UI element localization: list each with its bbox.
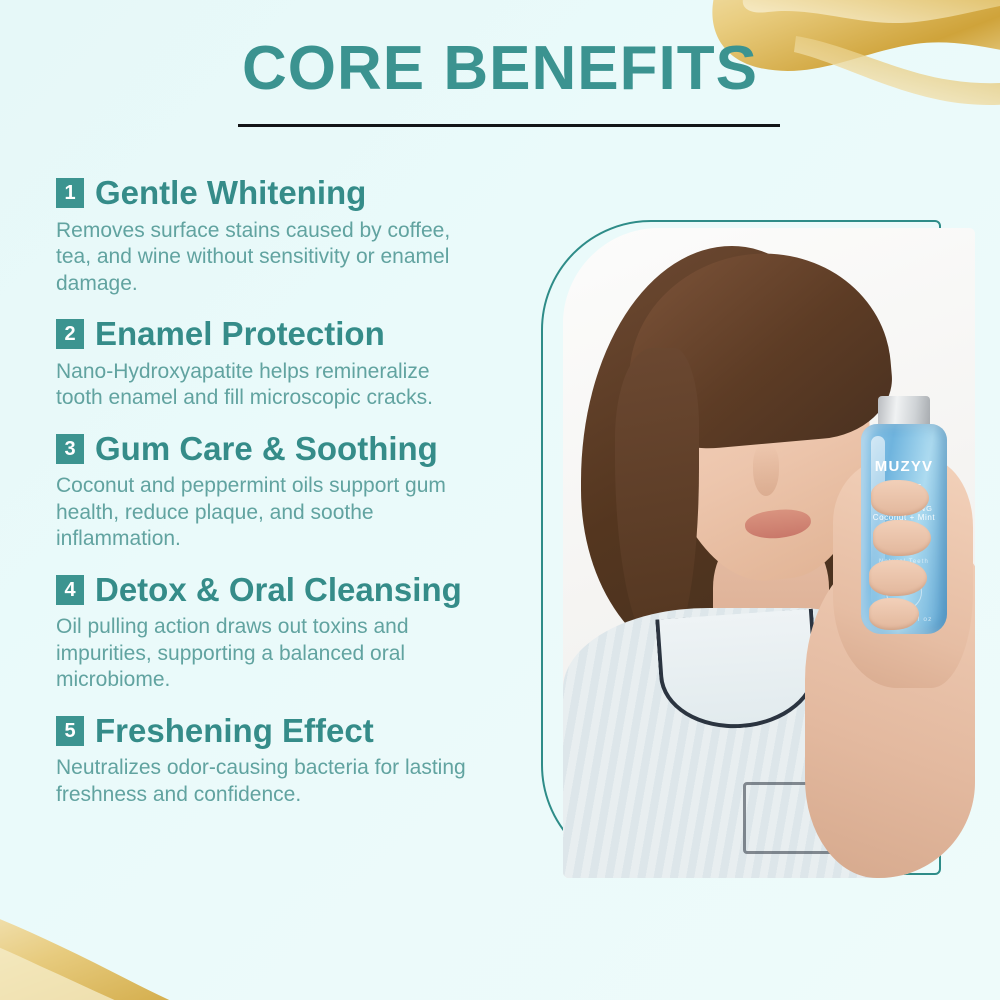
benefit-description: Coconut and peppermint oils support gum … xyxy=(56,473,476,552)
benefit-title: Gum Care & Soothing xyxy=(95,432,438,467)
benefit-item: 2 Enamel Protection Nano-Hydroxyapatite … xyxy=(56,317,526,412)
benefit-number-badge: 1 xyxy=(56,178,84,208)
benefit-header: 2 Enamel Protection xyxy=(56,317,526,352)
benefit-header: 5 Freshening Effect xyxy=(56,714,526,749)
model-nose xyxy=(753,444,779,496)
benefit-title: Gentle Whitening xyxy=(95,176,366,211)
benefit-item: 4 Detox & Oral Cleansing Oil pulling act… xyxy=(56,573,526,694)
benefit-header: 3 Gum Care & Soothing xyxy=(56,432,526,467)
benefit-item: 1 Gentle Whitening Removes surface stain… xyxy=(56,176,526,297)
product-photo: MUZYV GENTLE WHITENING OIL PULLING Cocon… xyxy=(563,228,975,878)
infographic-page: CORE BENEFITS 1 Gentle Whitening Removes… xyxy=(0,0,1000,1000)
bottle-brand-label: MUZYV xyxy=(861,458,947,475)
benefit-item: 5 Freshening Effect Neutralizes odor-cau… xyxy=(56,714,526,809)
benefit-description: Nano-Hydroxyapatite helps remineralize t… xyxy=(56,359,476,412)
model-finger xyxy=(873,520,931,556)
benefit-number-badge: 5 xyxy=(56,716,84,746)
benefit-description: Neutralizes odor-causing bacteria for la… xyxy=(56,755,476,808)
benefit-title: Freshening Effect xyxy=(95,714,374,749)
model-finger xyxy=(869,598,919,630)
title-underline xyxy=(238,124,780,127)
benefit-number-badge: 3 xyxy=(56,434,84,464)
benefit-title: Detox & Oral Cleansing xyxy=(95,573,462,608)
oil-splash-bottom-left-icon xyxy=(0,860,340,1000)
benefit-title: Enamel Protection xyxy=(95,317,385,352)
benefit-item: 3 Gum Care & Soothing Coconut and pepper… xyxy=(56,432,526,553)
benefit-number-badge: 2 xyxy=(56,319,84,349)
benefit-number-badge: 4 xyxy=(56,575,84,605)
model-finger xyxy=(871,480,929,516)
page-title: CORE BENEFITS xyxy=(0,38,1000,100)
benefit-header: 1 Gentle Whitening xyxy=(56,176,526,211)
benefit-description: Oil pulling action draws out toxins and … xyxy=(56,614,476,693)
benefit-description: Removes surface stains caused by coffee,… xyxy=(56,218,476,297)
model-finger xyxy=(869,560,927,596)
benefits-list: 1 Gentle Whitening Removes surface stain… xyxy=(56,176,526,828)
benefit-header: 4 Detox & Oral Cleansing xyxy=(56,573,526,608)
